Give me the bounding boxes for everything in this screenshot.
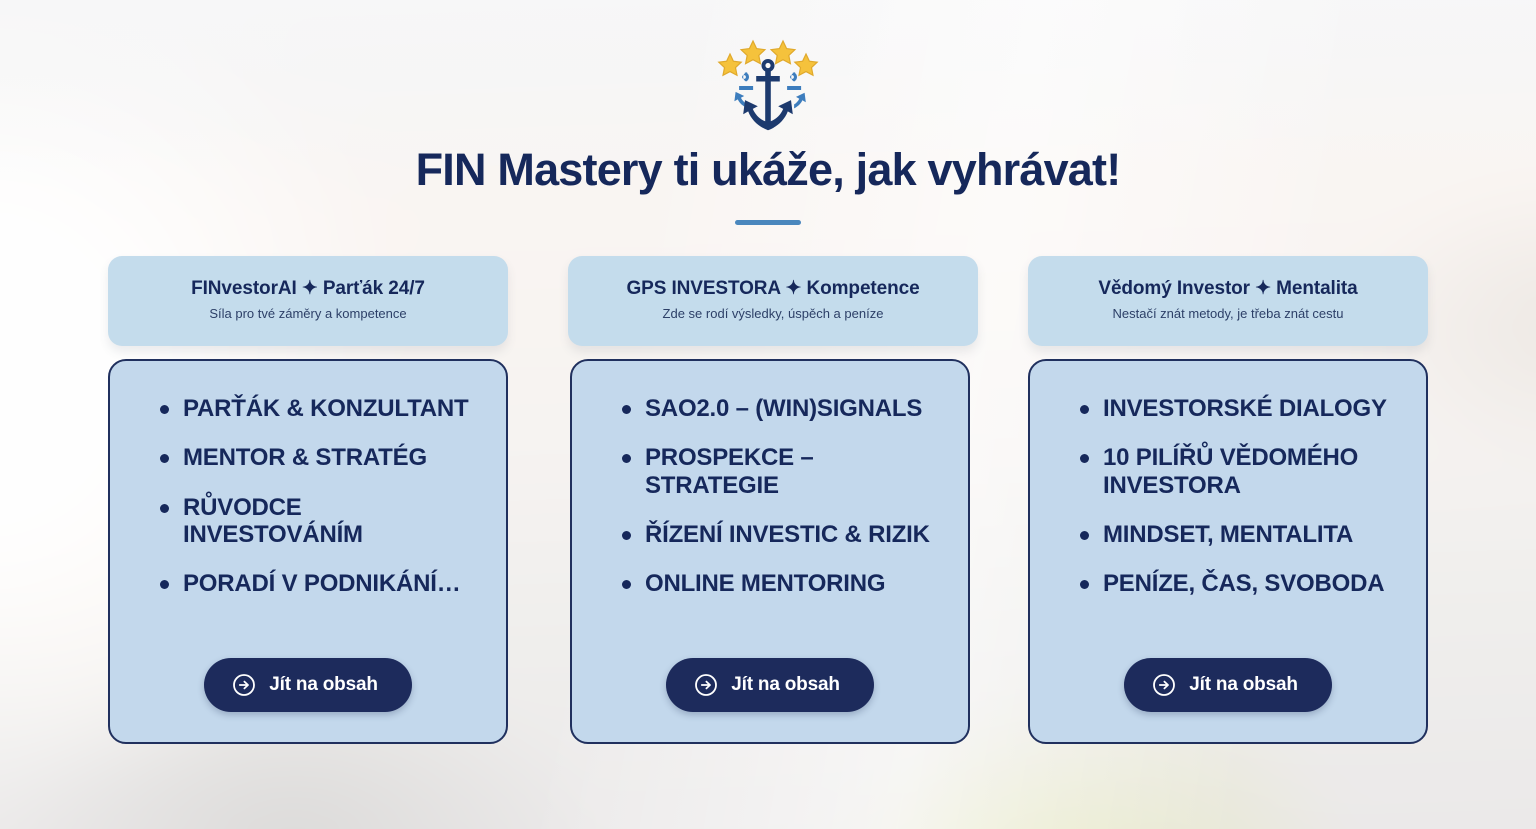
go-to-content-button-1[interactable]: Jít na obsah (204, 658, 411, 712)
card-subtitle: Nestačí znát metody, je třeba znát cestu (1113, 306, 1344, 321)
card-column-3: Vědomý Investor ✦ Mentalita Nestačí znát… (1028, 256, 1428, 766)
list-item: INVESTORSKÉ DIALOGY (1056, 395, 1400, 422)
bullet-icon (622, 531, 631, 540)
card-header-1: FINvestorAI ✦ Parťák 24/7 Síla pro tvé z… (108, 256, 508, 346)
list-item: SAO2.0 – (WIN)SIGNALS (598, 395, 942, 422)
card-column-1: FINvestorAI ✦ Parťák 24/7 Síla pro tvé z… (108, 256, 508, 766)
bullet-icon (622, 454, 631, 463)
bullet-icon (1080, 580, 1089, 589)
card-deck: FINvestorAI ✦ Parťák 24/7 Síla pro tvé z… (108, 256, 1428, 766)
bullet-icon (160, 454, 169, 463)
logo-container (0, 0, 1536, 136)
feature-label: PENÍZE, ČAS, SVOBODA (1103, 570, 1384, 597)
bullet-icon (160, 405, 169, 414)
feature-list: PARŤÁK & KONZULTANT MENTOR & STRATÉG RŮV… (136, 395, 480, 628)
card-title: FINvestorAI ✦ Parťák 24/7 (191, 277, 425, 300)
card-body-2: SAO2.0 – (WIN)SIGNALS PROSPEKCE – STRATE… (570, 359, 970, 744)
cta-label: Jít na obsah (1189, 674, 1297, 696)
cta-row: Jít na obsah (1056, 658, 1400, 712)
arrow-circle-right-icon (694, 673, 718, 697)
card-subtitle: Zde se rodí výsledky, úspěch a peníze (663, 306, 884, 321)
cta-row: Jít na obsah (598, 658, 942, 712)
feature-list: INVESTORSKÉ DIALOGY 10 PILÍŘŮ VĚDOMÉHO I… (1056, 395, 1400, 628)
feature-label: RŮVODCE INVESTOVÁNÍM (183, 494, 480, 549)
go-to-content-button-2[interactable]: Jít na obsah (666, 658, 873, 712)
anchor-stars-logo (708, 26, 828, 136)
cta-label: Jít na obsah (269, 674, 377, 696)
bullet-icon (622, 405, 631, 414)
list-item: ŘÍZENÍ INVESTIC & RIZIK (598, 521, 942, 548)
list-item: PROSPEKCE – STRATEGIE (598, 444, 942, 499)
feature-label: SAO2.0 – (WIN)SIGNALS (645, 395, 922, 422)
page-root: FIN Mastery ti ukáže, jak vyhrávat! FINv… (0, 0, 1536, 829)
bullet-icon (1080, 531, 1089, 540)
feature-label: ŘÍZENÍ INVESTIC & RIZIK (645, 521, 930, 548)
bullet-icon (160, 580, 169, 589)
feature-label: ONLINE MENTORING (645, 570, 885, 597)
page-title: FIN Mastery ti ukáže, jak vyhrávat! (0, 144, 1536, 196)
title-divider (735, 220, 801, 225)
list-item: RŮVODCE INVESTOVÁNÍM (136, 494, 480, 549)
bullet-icon (622, 580, 631, 589)
bullet-icon (160, 504, 169, 513)
bullet-icon (1080, 454, 1089, 463)
card-subtitle: Síla pro tvé záměry a kompetence (209, 306, 406, 321)
feature-label: PORADÍ V PODNIKÁNÍ… (183, 570, 461, 597)
cta-label: Jít na obsah (731, 674, 839, 696)
card-body-1: PARŤÁK & KONZULTANT MENTOR & STRATÉG RŮV… (108, 359, 508, 744)
feature-label: MENTOR & STRATÉG (183, 444, 427, 471)
list-item: PARŤÁK & KONZULTANT (136, 395, 480, 422)
list-item: MINDSET, MENTALITA (1056, 521, 1400, 548)
card-title: GPS INVESTORA ✦ Kompetence (626, 277, 919, 300)
card-column-2: GPS INVESTORA ✦ Kompetence Zde se rodí v… (568, 256, 968, 766)
card-header-3: Vědomý Investor ✦ Mentalita Nestačí znát… (1028, 256, 1428, 346)
feature-label: 10 PILÍŘŮ VĚDOMÉHO INVESTORA (1103, 444, 1400, 499)
card-title: Vědomý Investor ✦ Mentalita (1098, 277, 1357, 300)
arrow-circle-right-icon (1152, 673, 1176, 697)
card-body-3: INVESTORSKÉ DIALOGY 10 PILÍŘŮ VĚDOMÉHO I… (1028, 359, 1428, 744)
list-item: PORADÍ V PODNIKÁNÍ… (136, 570, 480, 597)
go-to-content-button-3[interactable]: Jít na obsah (1124, 658, 1331, 712)
feature-list: SAO2.0 – (WIN)SIGNALS PROSPEKCE – STRATE… (598, 395, 942, 628)
card-header-2: GPS INVESTORA ✦ Kompetence Zde se rodí v… (568, 256, 978, 346)
feature-label: PROSPEKCE – STRATEGIE (645, 444, 942, 499)
cta-row: Jít na obsah (136, 658, 480, 712)
list-item: 10 PILÍŘŮ VĚDOMÉHO INVESTORA (1056, 444, 1400, 499)
arrow-circle-right-icon (232, 673, 256, 697)
list-item: PENÍZE, ČAS, SVOBODA (1056, 570, 1400, 597)
feature-label: PARŤÁK & KONZULTANT (183, 395, 469, 422)
bullet-icon (1080, 405, 1089, 414)
feature-label: MINDSET, MENTALITA (1103, 521, 1353, 548)
list-item: MENTOR & STRATÉG (136, 444, 480, 471)
feature-label: INVESTORSKÉ DIALOGY (1103, 395, 1387, 422)
list-item: ONLINE MENTORING (598, 570, 942, 597)
